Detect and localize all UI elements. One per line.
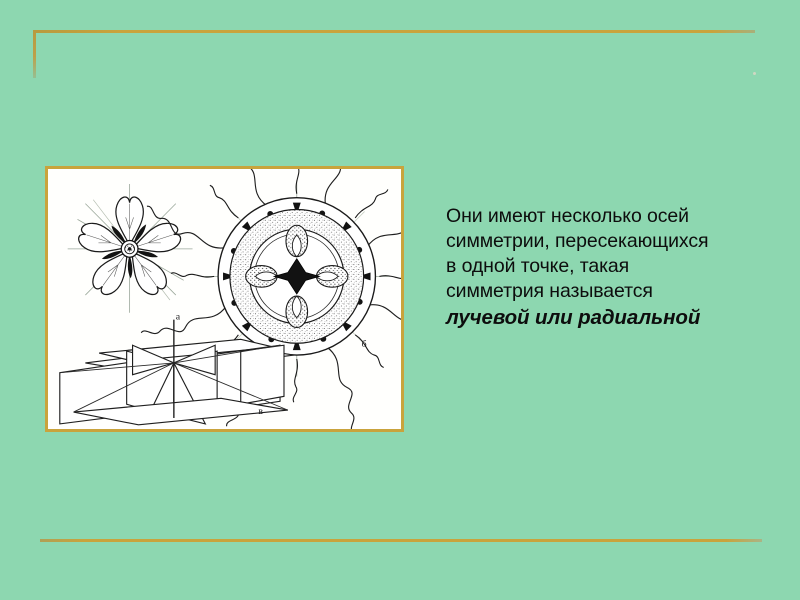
decorative-dot-icon: [753, 72, 756, 75]
top-left-corner-bracket: [33, 30, 36, 78]
body-text-line-4: симметрия называется: [446, 279, 776, 304]
top-gold-rule: [33, 30, 755, 33]
body-text-block: Они имеют несколько осей симметрии, пере…: [446, 204, 776, 330]
slide-root: а: [0, 0, 800, 600]
body-text-emphasis: лучевой или радиальной: [446, 305, 776, 330]
body-text-line-1: Они имеют несколько осей: [446, 204, 776, 229]
body-text-line-2: симметрии, пересекающихся: [446, 229, 776, 254]
figure-label-b: б: [362, 339, 367, 350]
body-text-line-3: в одной точке, такая: [446, 254, 776, 279]
radial-symmetry-illustration: а: [48, 169, 401, 429]
figure-label-v: в: [258, 406, 263, 417]
figure-image-frame: а: [45, 166, 404, 432]
bottom-gold-rule: [40, 539, 762, 542]
figure-label-a: а: [176, 312, 181, 323]
